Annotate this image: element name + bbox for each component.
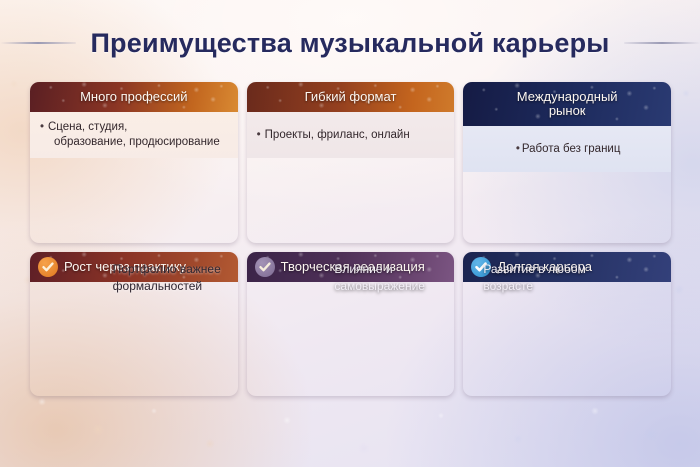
benefits-grid: Много профессий [30,82,671,396]
overlay-line-2: возрасте [483,279,533,293]
card-heading-line-1: Международный [517,90,618,104]
card-header: Международный рынок [463,82,671,126]
bullet-dot-icon: • [40,120,48,135]
overlay-line-1: Портфолио важнее [113,262,221,276]
page-title: Преимущества музыкальной карьеры [90,28,609,59]
card-flexible-format[interactable]: Гибкий формат [247,82,455,243]
slide-header: Преимущества музыкальной карьеры [0,18,700,68]
title-rule-left [0,42,76,44]
card-header: Много профессий [30,82,238,112]
card-bullet-text: •Проекты, фриланс, онлайн [257,128,410,143]
card-footer: •Работа без границ [463,126,671,172]
bullet-line-2: образование, продюсирование [40,136,220,148]
card-bullet-text: •Работа без границ [473,142,661,157]
card-creative-realization[interactable]: Творческая реализация [247,252,455,396]
card-header: Гибкий формат [247,82,455,112]
bullet-line-1: Работа без границ [522,143,621,155]
bullet-line-1: Проекты, фриланс, онлайн [265,129,410,141]
card-heading-line-2: рынок [549,104,586,118]
card-overlay-text: Развитие в любом возрасте [483,261,613,295]
title-rule-right [624,42,700,44]
overlay-line-1: Развитие в любом [483,262,585,276]
card-footer: •Проекты, фриланс, онлайн [247,112,455,158]
card-footer: •Сцена, студия, образование, продюсирова… [30,112,238,158]
card-overlay-text: Портфолио важнее формальностей [113,261,228,295]
slide-canvas: Преимущества музыкальной карьеры Много п… [0,0,700,467]
check-circle-icon [255,257,275,277]
card-many-professions[interactable]: Много профессий [30,82,238,243]
card-heading: Гибкий формат [305,90,397,104]
overlay-line-2: формальностей [113,279,202,293]
card-growth-through-practice[interactable]: Рост через практику [30,252,238,396]
check-circle-icon [38,257,58,277]
bullet-dot-icon: • [514,142,522,157]
card-bullet-text: •Сцена, студия, образование, продюсирова… [40,120,220,150]
bullet-line-1: Сцена, студия, [48,121,127,133]
overlay-line-2: самовыражение [334,279,425,293]
bullet-dot-icon: • [257,128,265,143]
card-heading: Много профессий [80,90,188,104]
card-international-market[interactable]: Международный рынок [463,82,671,243]
overlay-line-1: Влияние и [334,262,392,276]
card-overlay-text: Влияние и самовыражение [334,261,446,295]
card-long-career[interactable]: Долгая карьера [463,252,671,396]
